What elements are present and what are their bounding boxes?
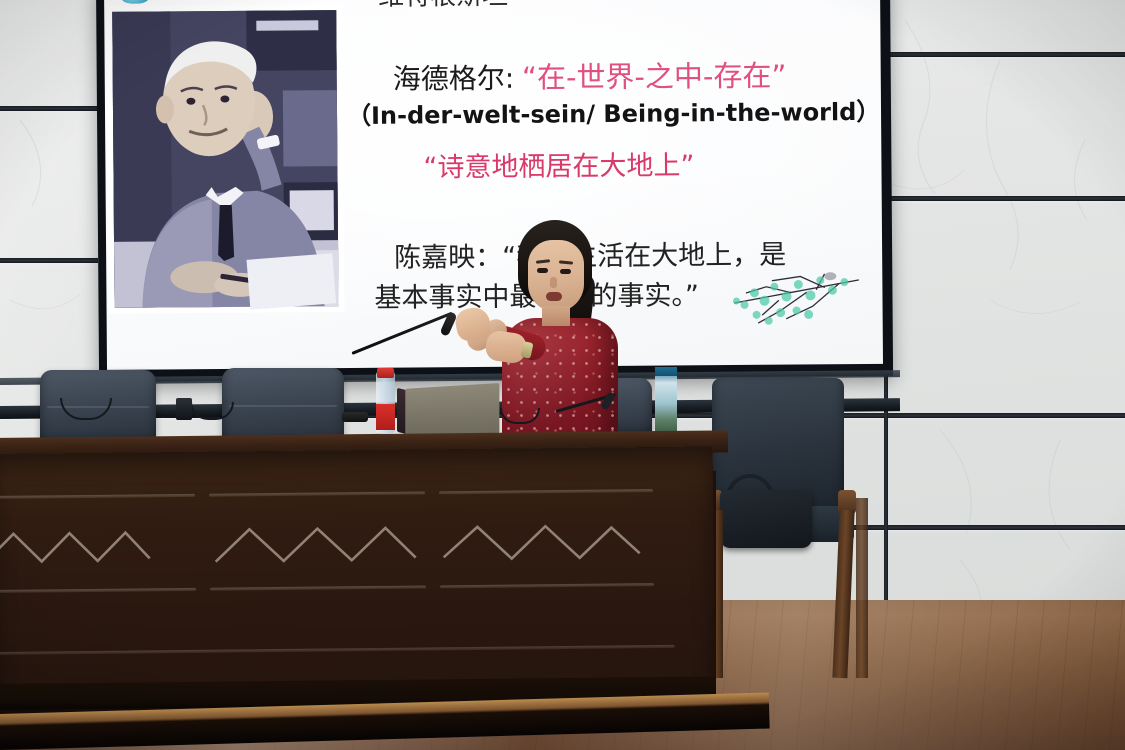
podium-inlay-line <box>440 583 654 588</box>
podium-chevron-motif <box>439 513 654 577</box>
wall-grout-line <box>0 106 98 111</box>
wall-grout-line <box>880 52 1125 57</box>
podium-inlay-line <box>439 489 653 494</box>
tea-bottle[interactable] <box>655 370 677 434</box>
slide-line-heidegger-quote: “在-世界-之中-存在” <box>522 59 787 95</box>
slide-line-heidegger-label: 海德格尔: <box>393 62 515 96</box>
water-bottle-cap[interactable] <box>377 368 394 378</box>
presenter-eye-right <box>560 269 571 274</box>
podium-chevron-motif <box>0 518 198 582</box>
lecture-hall-photo: 维特根斯坦 (a form of life) 海德格尔: “在-世界-之中-存在… <box>0 0 1125 750</box>
slide-line-poetic-dwelling: “诗意地栖居在大地上” <box>423 143 694 184</box>
podium-inlay-line <box>0 588 196 593</box>
slide-logo-icon <box>120 0 150 4</box>
chair-seam <box>229 405 336 407</box>
heidegger-portrait <box>106 4 344 314</box>
presenter-neck <box>542 306 570 326</box>
chair-leg-rear <box>856 498 868 678</box>
presenter-mouth <box>546 292 562 301</box>
presenter-face <box>528 240 584 312</box>
microphone-base[interactable] <box>342 412 368 422</box>
podium-inlay-line <box>209 491 425 496</box>
slide-line-being-in-the-world: （In-der-welt-sein/ Being-in-the-world） <box>347 92 881 131</box>
leaf-branch-icon <box>720 262 861 339</box>
laptop-screen[interactable] <box>405 383 499 434</box>
water-bottle-label <box>376 404 395 430</box>
podium-inlay-line <box>0 494 195 499</box>
podium-inlay-line <box>210 585 426 590</box>
desk-connector-box <box>176 398 192 420</box>
presenter-nose <box>550 277 557 288</box>
slide-line-wittgenstein: 维特根斯坦 <box>378 0 508 13</box>
podium-chevron-motif <box>209 515 426 579</box>
tea-bottle-cap[interactable] <box>655 367 677 376</box>
wall-grout-line <box>0 258 98 263</box>
lecture-podium <box>0 438 728 738</box>
podium-inlay-line <box>0 645 675 655</box>
side-chair-with-bag[interactable] <box>706 378 864 678</box>
presenter-eye-left <box>537 268 548 273</box>
wall-grout-line <box>880 196 1125 201</box>
slide-line-form-of-life: (a form of life) <box>496 0 702 2</box>
handbag[interactable] <box>720 490 812 548</box>
